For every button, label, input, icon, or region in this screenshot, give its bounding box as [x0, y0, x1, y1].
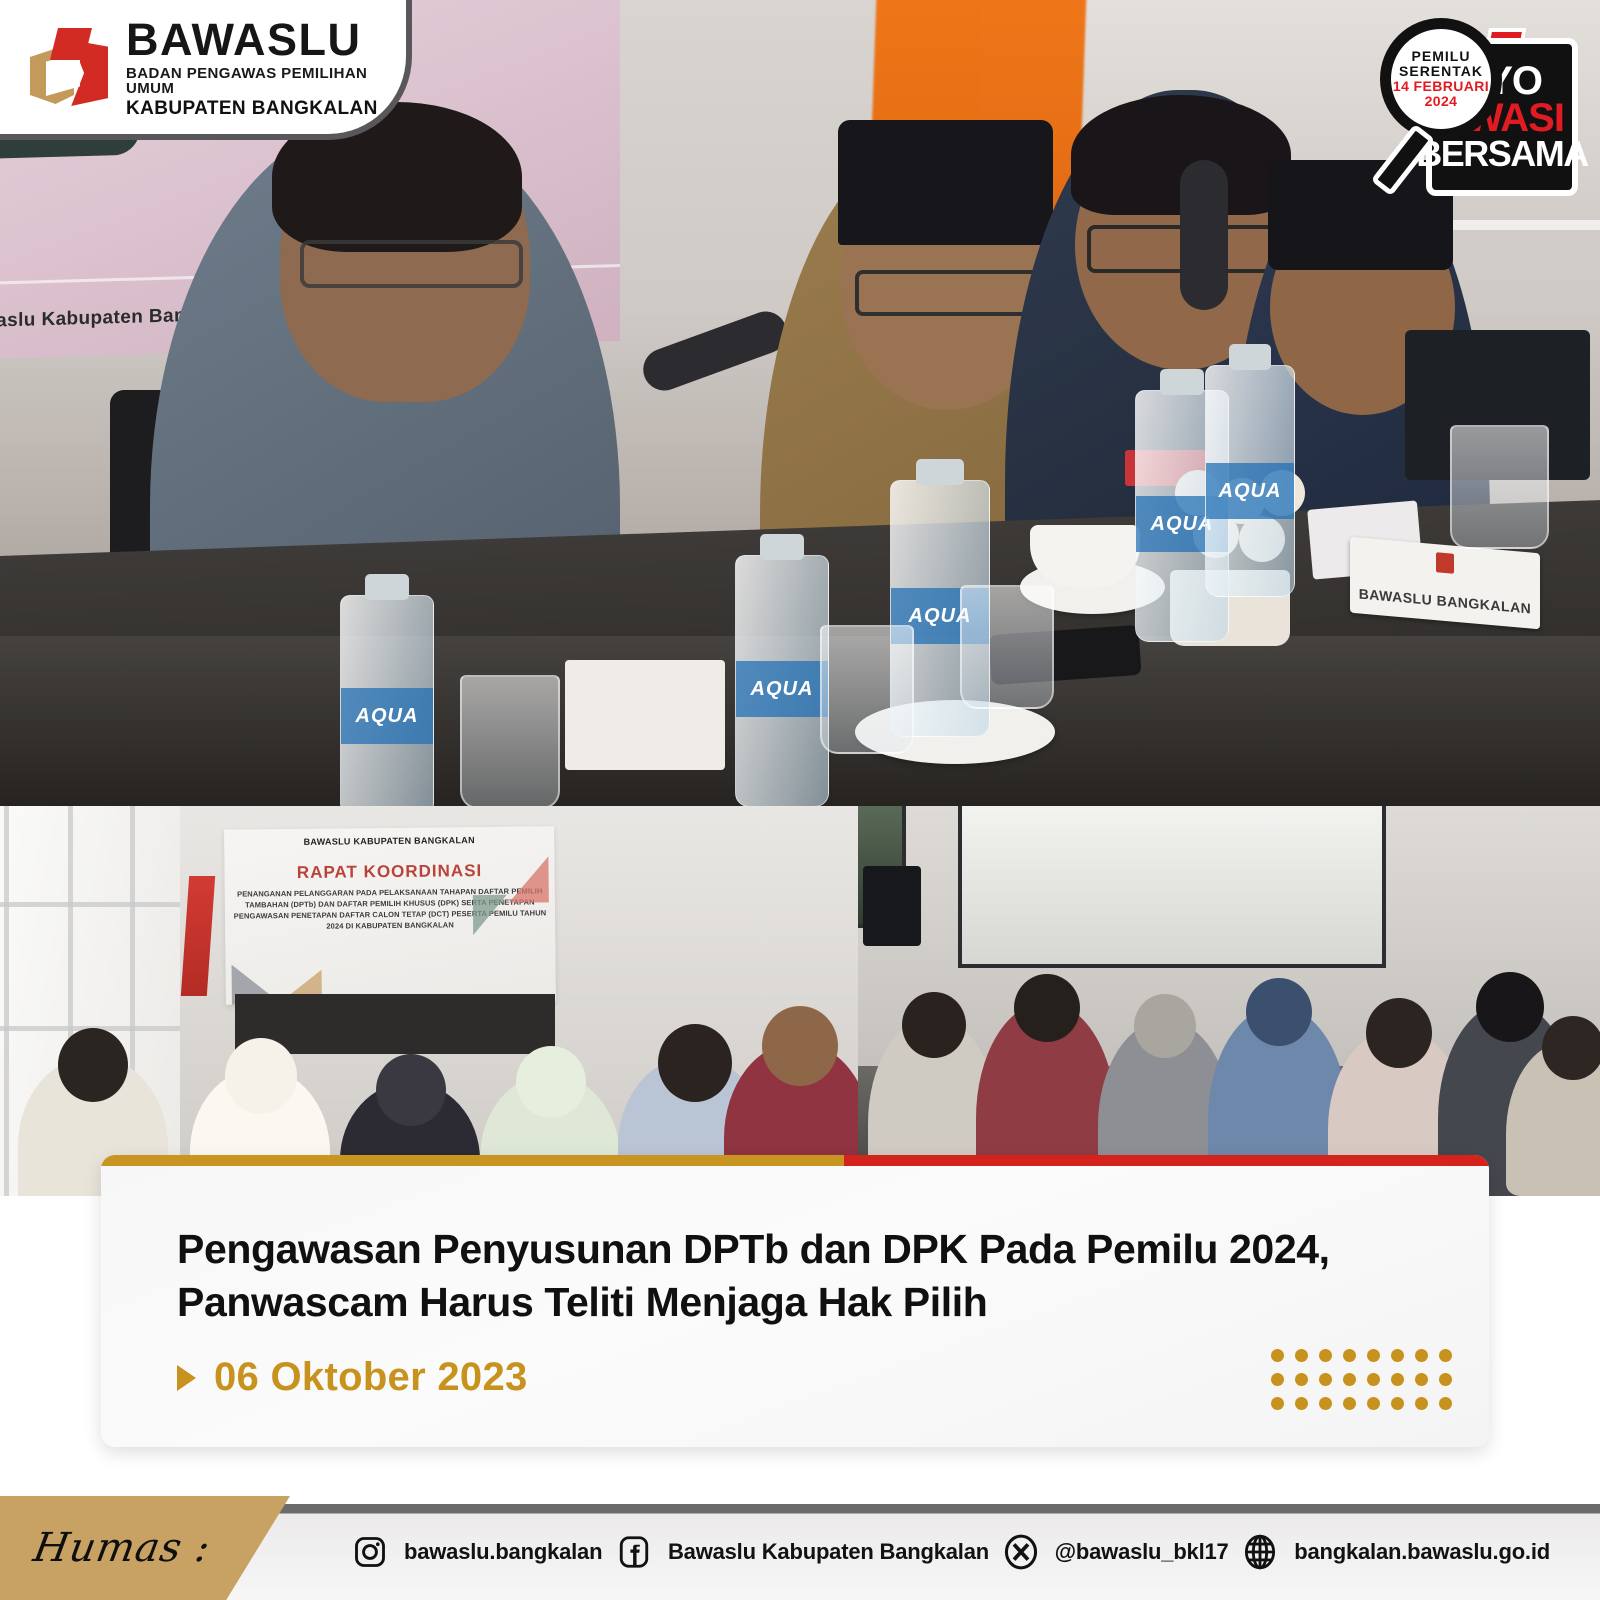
logo-sub-2: KABUPATEN BANGKALAN [126, 99, 406, 118]
badge-serentak: SERENTAK [1399, 64, 1483, 79]
social-label-facebook: Bawaslu Kabupaten Bangkalan [668, 1539, 989, 1565]
social-label-instagram: bawaslu.bangkalan [404, 1539, 602, 1565]
accent-gold-segment [101, 1155, 844, 1166]
microphone-handheld [1180, 160, 1228, 310]
dot-grid-decoration [1271, 1349, 1463, 1421]
water-bottle: AQUA [1205, 365, 1295, 597]
water-bottle: AQUA [340, 595, 434, 806]
drinking-glass [960, 585, 1054, 709]
badge-pemilu: PEMILU [1412, 49, 1471, 64]
ayo-awasi-bersama-badge: AYO AWASI BERSAMA PEMILU SERENTAK 14 FEB… [1380, 12, 1578, 202]
projector-screen [958, 806, 1386, 968]
social-item-facebook[interactable]: Bawaslu Kabupaten Bangkalan [614, 1532, 989, 1572]
bawaslu-wordmark: BAWASLU BADAN PENGAWAS PEMILIHAN UMUM KA… [126, 17, 406, 118]
accent-red-segment [844, 1155, 1489, 1166]
water-bottle: AQUA [735, 555, 829, 806]
attendee-head [376, 1054, 446, 1126]
attendee-head [1476, 972, 1544, 1042]
publish-date: 06 Oktober 2023 [214, 1355, 528, 1400]
play-triangle-icon [177, 1365, 196, 1391]
attendee-head [225, 1038, 297, 1114]
bawaslu-logo-header: BAWASLU BADAN PENGAWAS PEMILIHAN UMUM KA… [0, 0, 412, 140]
attendee-head [1542, 1016, 1600, 1080]
magnifier-icon: PEMILU SERENTAK 14 FEBRUARI 2024 [1380, 18, 1502, 140]
badge-date: 14 FEBRUARI [1393, 79, 1489, 94]
social-links: bawaslu.bangkalan Bawaslu Kabupaten Bang… [330, 1504, 1580, 1600]
logo-sub-1: BADAN PENGAWAS PEMILIHAN UMUM [126, 66, 406, 96]
coffee-cup [1030, 525, 1140, 587]
banner-org: BAWASLU KABUPATEN BANGKALAN [224, 834, 554, 847]
facebook-icon [614, 1532, 654, 1572]
drinking-glass [820, 625, 914, 754]
badge-word-bersama: BERSAMA [1416, 137, 1588, 171]
x-twitter-icon [1001, 1532, 1041, 1572]
social-label-website: bangkalan.bawaslu.go.id [1294, 1539, 1550, 1565]
attendee-head [58, 1028, 128, 1102]
event-backdrop-banner: BAWASLU KABUPATEN BANGKALAN RAPAT KOORDI… [224, 826, 556, 1004]
peci-cap [838, 120, 1053, 245]
nameplate-logo-icon [1436, 552, 1454, 574]
social-item-x[interactable]: @bawaslu_bkl17 [1001, 1532, 1229, 1572]
humas-label: Humas : [30, 1525, 214, 1571]
attendee-head [762, 1006, 838, 1086]
attendee-head [1366, 998, 1432, 1068]
page-title: Pengawasan Penyusunan DPTb dan DPK Pada … [177, 1223, 1429, 1330]
drinking-glass [1450, 425, 1549, 549]
logo-name: BAWASLU [126, 17, 406, 62]
red-flag [181, 876, 215, 996]
drinking-glass [460, 675, 560, 806]
publish-date-row: 06 Oktober 2023 [177, 1355, 528, 1400]
attendee-head [1014, 974, 1080, 1042]
attendee-head [516, 1046, 586, 1118]
banner-title: RAPAT KOORDINASI [224, 860, 554, 883]
social-label-x: @bawaslu_bkl17 [1055, 1539, 1229, 1565]
attendee-head [1134, 994, 1196, 1058]
badge-year: 2024 [1425, 94, 1458, 109]
article-card: Pengawasan Penyusunan DPTb dan DPK Pada … [101, 1155, 1489, 1447]
footer-bar: Humas : bawaslu.bangkalan [0, 1490, 1600, 1600]
attendee-head [1246, 978, 1312, 1046]
nameplate-text: BAWASLU BANGKALAN [1350, 585, 1540, 618]
instagram-icon [350, 1532, 390, 1572]
bottle-label: AQUA [1206, 463, 1294, 519]
social-item-instagram[interactable]: bawaslu.bangkalan [350, 1532, 602, 1572]
bottom-left-photo: BAWASLU KABUPATEN BANGKALAN RAPAT KOORDI… [0, 806, 858, 1196]
bottom-photo-row: BAWASLU KABUPATEN BANGKALAN RAPAT KOORDI… [0, 806, 1600, 1196]
speaker-box [863, 866, 921, 946]
globe-icon [1240, 1532, 1280, 1572]
bottle-label: AQUA [341, 688, 433, 744]
social-item-website[interactable]: bangkalan.bawaslu.go.id [1240, 1532, 1550, 1572]
bawaslu-ballot-box-icon [28, 26, 112, 108]
attendee-head [902, 992, 966, 1058]
poster-root: 23 awaslu Kabupaten Bangkalan ✕ @bawaslu… [0, 0, 1600, 1600]
eyeglasses-icon [300, 240, 523, 288]
snack-box [565, 660, 725, 770]
bottom-right-photo [858, 806, 1600, 1196]
bottle-label: AQUA [736, 661, 828, 717]
attendee-head [658, 1024, 732, 1102]
eyeglasses-icon [855, 270, 1048, 316]
card-accent-bar [101, 1155, 1489, 1166]
